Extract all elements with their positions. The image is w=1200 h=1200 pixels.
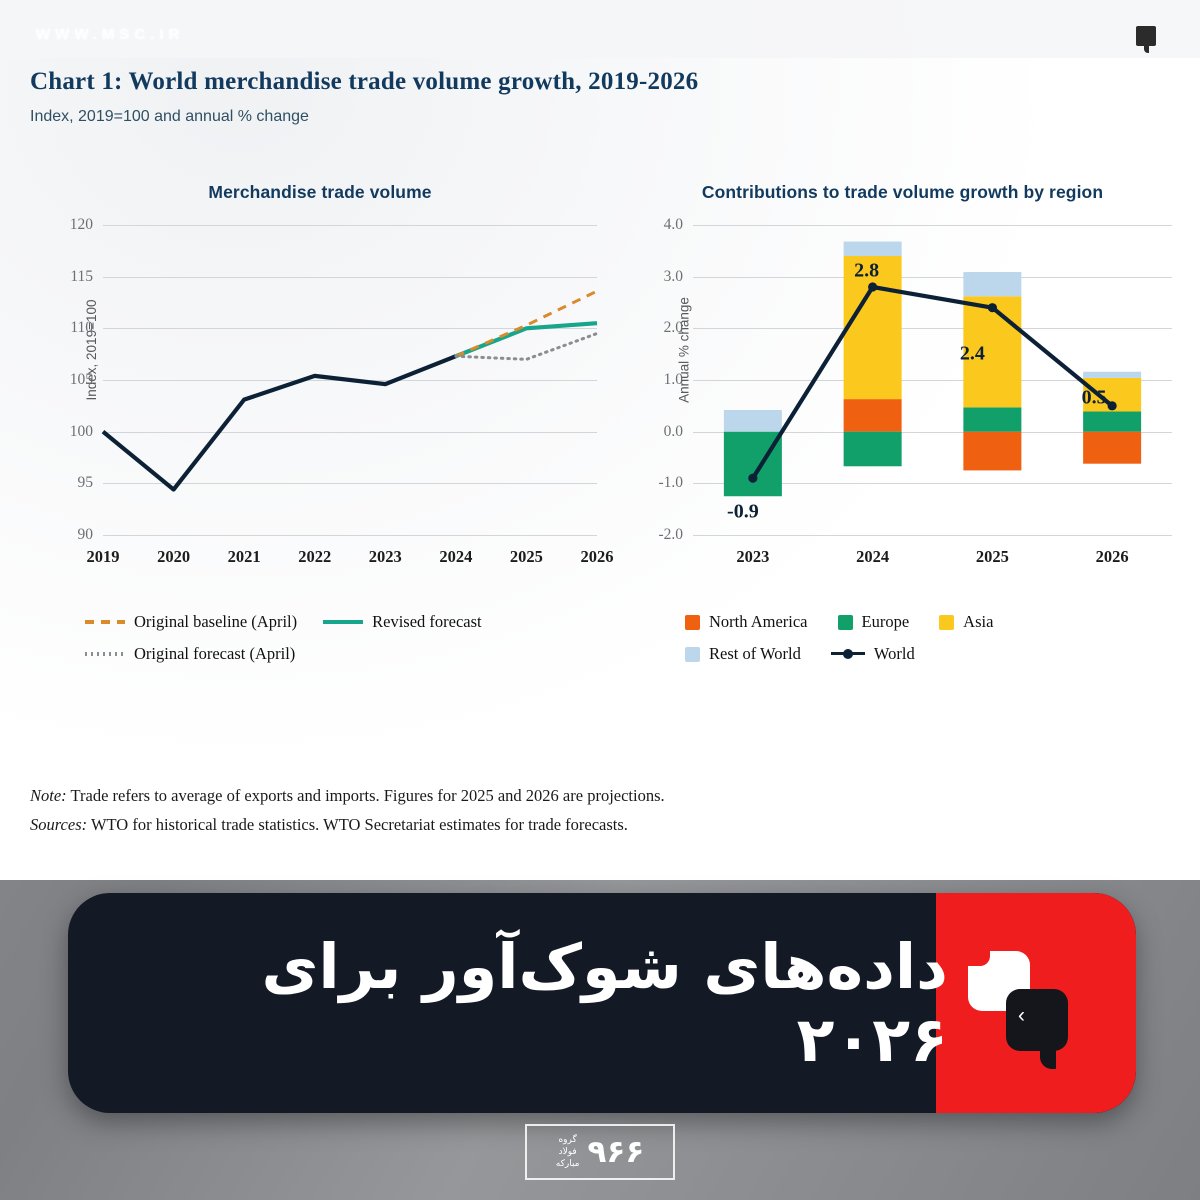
bar-value-label: 2.8 — [854, 260, 879, 283]
bar-value-label: -0.9 — [727, 501, 759, 524]
site-watermark: WWW.MSC.IR — [36, 26, 184, 43]
y-axis-tick: 0.0 — [664, 423, 683, 441]
bar-segment — [1083, 412, 1141, 432]
bar-value-label: 0.5 — [1082, 386, 1107, 409]
x-axis-tick: 2019 — [87, 547, 120, 567]
y-axis-tick: 3.0 — [664, 268, 683, 286]
legend-item[interactable]: Revised forecast — [323, 612, 482, 632]
promo-banner: ‹ داده‌های شوک‌آور برای ۲۰۲۶ — [68, 893, 1136, 1113]
bar-segment — [844, 399, 902, 432]
legend-label: Original forecast (April) — [134, 644, 295, 664]
page-title: Chart 1: World merchandise trade volume … — [30, 68, 698, 96]
legend-item[interactable]: Europe — [838, 612, 910, 632]
x-axis-tick: 2025 — [510, 547, 543, 567]
legend-item[interactable]: Original forecast (April) — [85, 644, 295, 664]
bar-segment — [963, 407, 1021, 431]
corner-bookmark-icon — [1136, 26, 1156, 46]
right-chart-title: Contributions to trade volume growth by … — [615, 160, 1190, 203]
right-legend: North AmericaEuropeAsiaRest of WorldWorl… — [615, 612, 1190, 676]
sources-label: Sources: — [30, 815, 87, 834]
y-axis-tick: 100 — [70, 423, 93, 441]
x-axis-tick: 2024 — [439, 547, 472, 567]
legend-label: World — [874, 644, 915, 664]
legend-label: North America — [709, 612, 808, 632]
left-plot-area: 9095100105110115120201920202021202220232… — [103, 225, 597, 535]
y-axis-tick: 95 — [78, 474, 94, 492]
footer-logo-words: گروه فولاد مبارکه — [556, 1134, 580, 1170]
line-series-layer — [103, 225, 597, 535]
legend-row: Original baseline (April)Revised forecas… — [85, 612, 615, 632]
y-axis-tick: -1.0 — [658, 474, 683, 492]
legend-row: North AmericaEuropeAsia — [685, 612, 1190, 632]
legend-label: Asia — [963, 612, 993, 632]
left-chart-title: Merchandise trade volume — [25, 160, 615, 203]
legend-row: Rest of WorldWorld — [685, 644, 1190, 664]
legend-item[interactable]: Original baseline (April) — [85, 612, 297, 632]
bar-segment — [844, 432, 902, 467]
y-axis-tick: 4.0 — [664, 216, 683, 234]
footer-logo-mark: ۹۶۶ — [588, 1134, 645, 1170]
right-plot-area: 4.03.02.01.00.0-1.0-2.02023202420252026-… — [693, 225, 1172, 535]
legend-item[interactable]: World — [831, 644, 915, 664]
y-axis-tick: -2.0 — [658, 526, 683, 544]
legend-item[interactable]: Asia — [939, 612, 993, 632]
left-legend: Original baseline (April)Revised forecas… — [25, 612, 615, 676]
x-axis-tick: 2020 — [157, 547, 190, 567]
note-label: Note: — [30, 786, 67, 805]
footer-logo-line3: مبارکه — [556, 1158, 580, 1170]
x-axis-tick: 2024 — [856, 547, 889, 567]
x-axis-tick: 2023 — [736, 547, 769, 567]
legend-color-swatch — [838, 615, 853, 630]
y-axis-tick: 1.0 — [664, 371, 683, 389]
bar-segment — [724, 432, 782, 497]
sources-line: Sources: WTO for historical trade statis… — [30, 811, 1030, 840]
line-series — [103, 356, 456, 489]
banner-headline: داده‌های شوک‌آور برای ۲۰۲۶ — [108, 893, 948, 1113]
chart-panel-bars: Contributions to trade volume growth by … — [615, 160, 1190, 690]
legend-item[interactable]: North America — [685, 612, 808, 632]
x-axis-tick: 2021 — [228, 547, 261, 567]
quote-bubble-dark-icon — [1006, 989, 1068, 1051]
footer-logo-line1: گروه — [556, 1134, 580, 1146]
chart-panel-line: Merchandise trade volume Index, 2019=100… — [25, 160, 615, 690]
bar-segment — [724, 410, 782, 432]
y-axis-tick: 110 — [70, 319, 93, 337]
x-axis-tick: 2023 — [369, 547, 402, 567]
bar-segment — [963, 272, 1021, 296]
note-text: Trade refers to average of exports and i… — [67, 786, 665, 805]
bar-segment — [963, 432, 1021, 471]
x-axis-tick: 2026 — [1096, 547, 1129, 567]
bar-segment — [1083, 372, 1141, 378]
y-axis-tick: 105 — [70, 371, 93, 389]
y-axis-tick: 2.0 — [664, 319, 683, 337]
world-data-point — [1108, 401, 1117, 410]
legend-label: Original baseline (April) — [134, 612, 297, 632]
legend-color-swatch — [685, 615, 700, 630]
x-axis-tick: 2025 — [976, 547, 1009, 567]
legend-label: Rest of World — [709, 644, 801, 664]
footer-logo-line2: فولاد — [556, 1146, 580, 1158]
world-overlay-line — [753, 287, 1112, 478]
legend-label: Revised forecast — [372, 612, 482, 632]
sources-text: WTO for historical trade statistics. WTO… — [87, 815, 628, 834]
bar-series-layer — [693, 225, 1172, 535]
bar-value-label: 2.4 — [960, 342, 985, 365]
bar-segment — [1083, 432, 1141, 464]
x-axis-tick: 2022 — [298, 547, 331, 567]
note-line: Note: Trade refers to average of exports… — [30, 782, 1030, 811]
legend-row: Original forecast (April) — [85, 644, 615, 664]
quote-bubbles-icon: ‹ — [968, 951, 1078, 1061]
page-subtitle: Index, 2019=100 and annual % change — [30, 108, 309, 126]
legend-item[interactable]: Rest of World — [685, 644, 801, 664]
chart-sheet: WWW.MSC.IR Chart 1: World merchandise tr… — [0, 0, 1200, 880]
y-axis-tick: 115 — [70, 268, 93, 286]
footer-logo: ۹۶۶ گروه فولاد مبارکه — [525, 1124, 675, 1180]
world-data-point — [748, 474, 757, 483]
x-axis-tick: 2026 — [581, 547, 614, 567]
chart-notes: Note: Trade refers to average of exports… — [30, 782, 1030, 840]
banner-accent-panel: ‹ — [936, 893, 1136, 1113]
bar-segment — [844, 242, 902, 256]
legend-color-swatch — [939, 615, 954, 630]
legend-label: Europe — [862, 612, 910, 632]
gridline — [103, 535, 597, 536]
legend-color-swatch — [685, 647, 700, 662]
y-axis-tick: 90 — [78, 526, 94, 544]
y-axis-tick: 120 — [70, 216, 93, 234]
world-data-point — [868, 282, 877, 291]
chevron-left-icon: ‹ — [1018, 1005, 1025, 1026]
gridline — [693, 535, 1172, 536]
world-data-point — [988, 303, 997, 312]
